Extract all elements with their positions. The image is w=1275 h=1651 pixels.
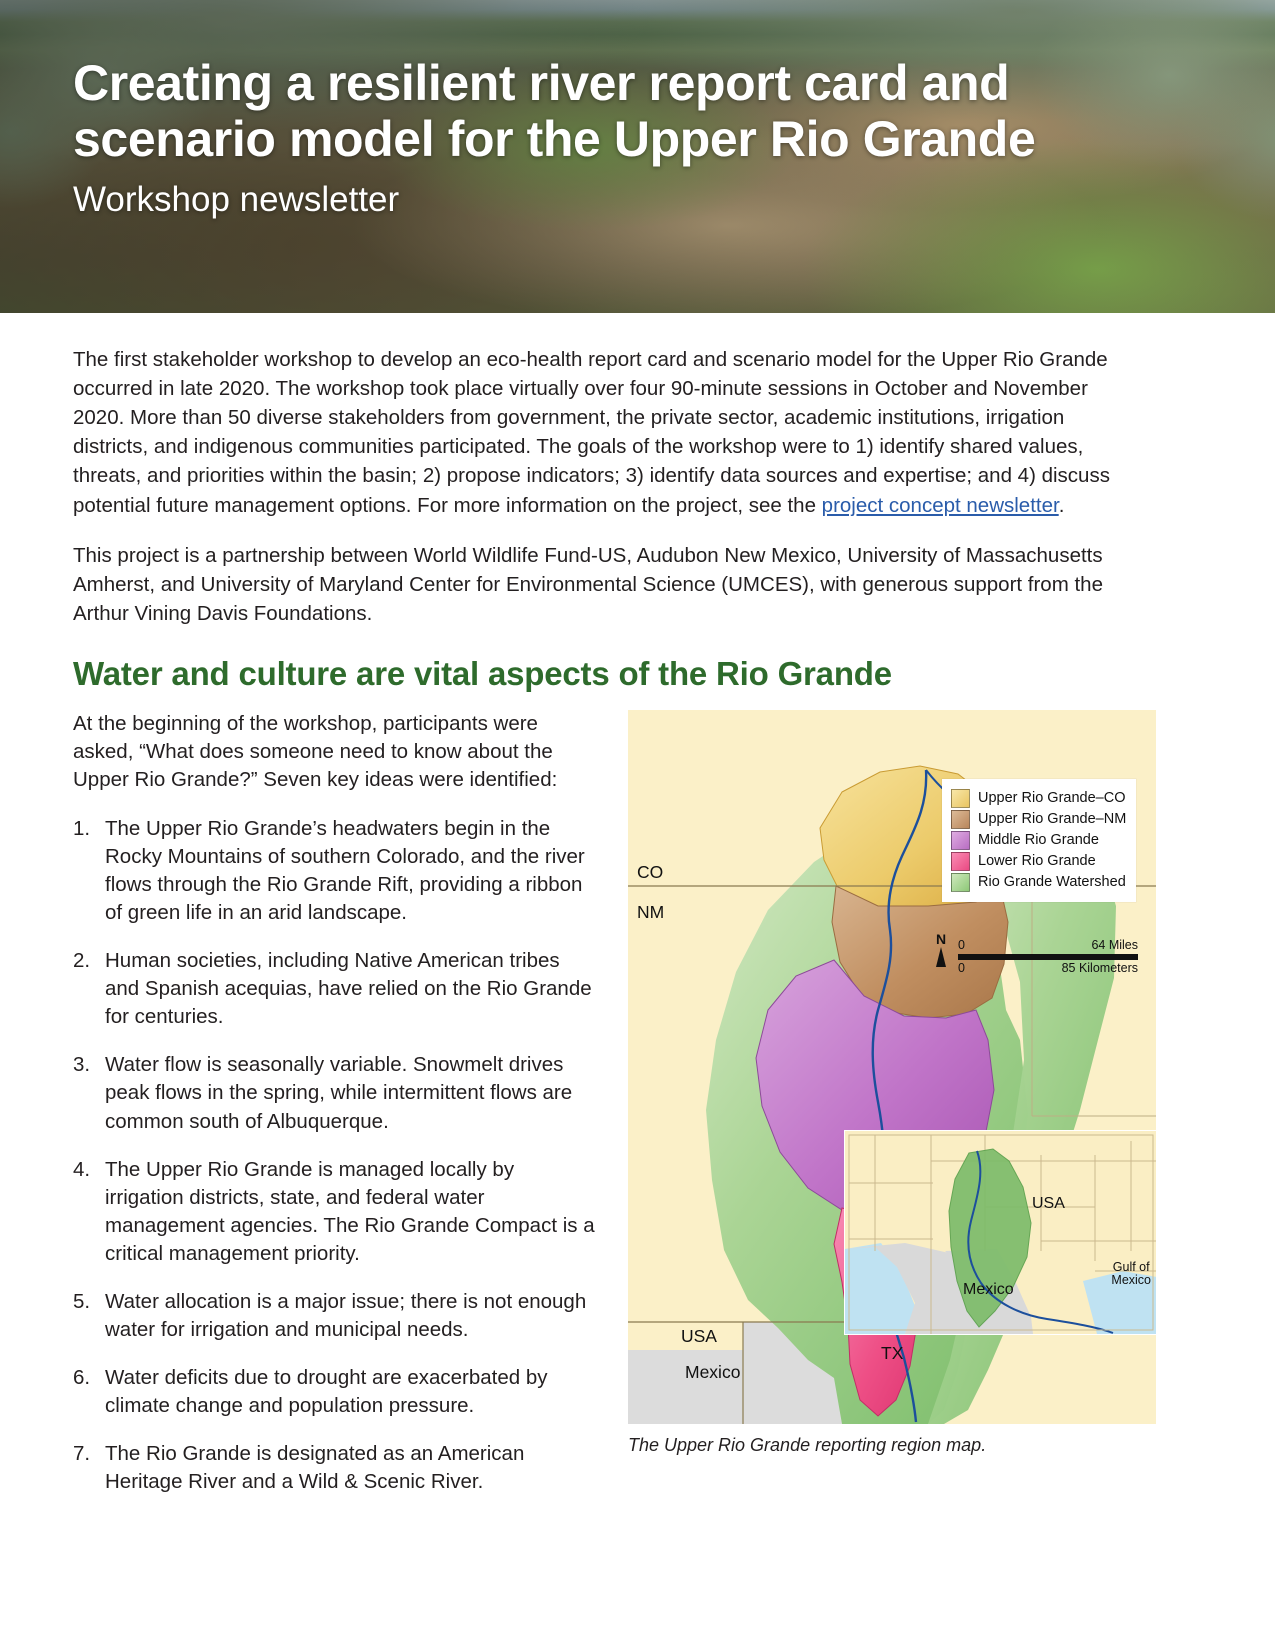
map-scale-bar: 0 64 Miles 0 85 Kilometers: [958, 938, 1138, 975]
page-content: The first stakeholder workshop to develo…: [0, 313, 1275, 1516]
scale-miles-min: 0: [958, 938, 965, 952]
north-arrow-icon: N: [931, 932, 951, 967]
intro-paragraph-2: This project is a partnership between Wo…: [73, 541, 1128, 628]
map-label-usa: USA: [681, 1326, 717, 1347]
map-label-nm: NM: [637, 902, 664, 923]
legend-swatch-icon: [951, 789, 970, 808]
map-label-mexico: Mexico: [685, 1362, 740, 1383]
scale-miles-row: 0 64 Miles: [958, 938, 1138, 952]
list-item: The Upper Rio Grande is managed locally …: [73, 1156, 598, 1268]
map-image: Upper Rio Grande Sub-basin: [628, 710, 1156, 1424]
intro-paragraph-1: The first stakeholder workshop to develo…: [73, 313, 1128, 520]
map-figure: Upper Rio Grande Sub-basin: [628, 710, 1156, 1456]
scale-bar-line: [958, 954, 1138, 960]
legend-item-middle-rio-grande: Middle Rio Grande: [951, 831, 1126, 850]
legend-label: Lower Rio Grande: [978, 853, 1096, 869]
legend-swatch-icon: [951, 831, 970, 850]
map-label-co: CO: [637, 862, 663, 883]
legend-swatch-icon: [951, 852, 970, 871]
project-concept-newsletter-link[interactable]: project concept newsletter: [822, 494, 1059, 517]
two-column-layout: At the beginning of the workshop, partic…: [73, 710, 1202, 1517]
key-ideas-list: The Upper Rio Grande’s headwaters begin …: [73, 815, 598, 1497]
inset-label-usa: USA: [1032, 1195, 1065, 1213]
inset-label-gulf-of-mexico: Gulf of Mexico: [1111, 1261, 1151, 1287]
list-item: Human societies, including Native Americ…: [73, 947, 598, 1031]
intro-paragraph-1-text-a: The first stakeholder workshop to develo…: [73, 348, 1110, 517]
hero-text-block: Creating a resilient river report card a…: [73, 55, 1183, 221]
legend-item-lower-rio-grande: Lower Rio Grande: [951, 852, 1126, 871]
map-legend: Upper Rio Grande–CO Upper Rio Grande–NM …: [942, 779, 1136, 902]
page-subtitle: Workshop newsletter: [73, 179, 1183, 221]
list-item: The Upper Rio Grande’s headwaters begin …: [73, 815, 598, 927]
inset-map-svg: [845, 1131, 1156, 1334]
scale-km-max: 85 Kilometers: [1062, 961, 1138, 975]
scale-miles-max: 64 Miles: [1091, 938, 1138, 952]
north-arrow-label: N: [931, 932, 951, 946]
legend-item-upper-rio-grande-nm: Upper Rio Grande–NM: [951, 810, 1126, 829]
legend-label: Upper Rio Grande–NM: [978, 811, 1126, 827]
right-column: Upper Rio Grande Sub-basin: [628, 710, 1156, 1456]
scale-km-min: 0: [958, 961, 965, 975]
north-arrow-glyph: [936, 947, 946, 967]
list-item: Water allocation is a major issue; there…: [73, 1288, 598, 1344]
list-item: Water flow is seasonally variable. Snowm…: [73, 1051, 598, 1135]
page-title: Creating a resilient river report card a…: [73, 55, 1183, 167]
list-item: The Rio Grande is designated as an Ameri…: [73, 1440, 598, 1496]
inset-locator-map: USA Mexico Gulf of Mexico: [844, 1130, 1156, 1335]
inset-label-mexico: Mexico: [963, 1281, 1014, 1299]
legend-label: Middle Rio Grande: [978, 832, 1099, 848]
list-item: Water deficits due to drought are exacer…: [73, 1364, 598, 1420]
legend-item-rio-grande-watershed: Rio Grande Watershed: [951, 873, 1126, 892]
hero-banner: Creating a resilient river report card a…: [0, 0, 1275, 313]
legend-swatch-icon: [951, 810, 970, 829]
section-lead-paragraph: At the beginning of the workshop, partic…: [73, 710, 598, 794]
left-column: At the beginning of the workshop, partic…: [73, 710, 598, 1517]
legend-item-upper-rio-grande-co: Upper Rio Grande–CO: [951, 789, 1126, 808]
legend-label: Upper Rio Grande–CO: [978, 790, 1126, 806]
intro-paragraph-1-text-b: .: [1059, 494, 1065, 517]
legend-label: Rio Grande Watershed: [978, 874, 1126, 890]
scale-km-row: 0 85 Kilometers: [958, 961, 1138, 975]
legend-swatch-icon: [951, 873, 970, 892]
map-caption: The Upper Rio Grande reporting region ma…: [628, 1435, 1156, 1456]
section-heading: Water and culture are vital aspects of t…: [73, 654, 1202, 694]
map-label-tx: TX: [881, 1343, 903, 1364]
